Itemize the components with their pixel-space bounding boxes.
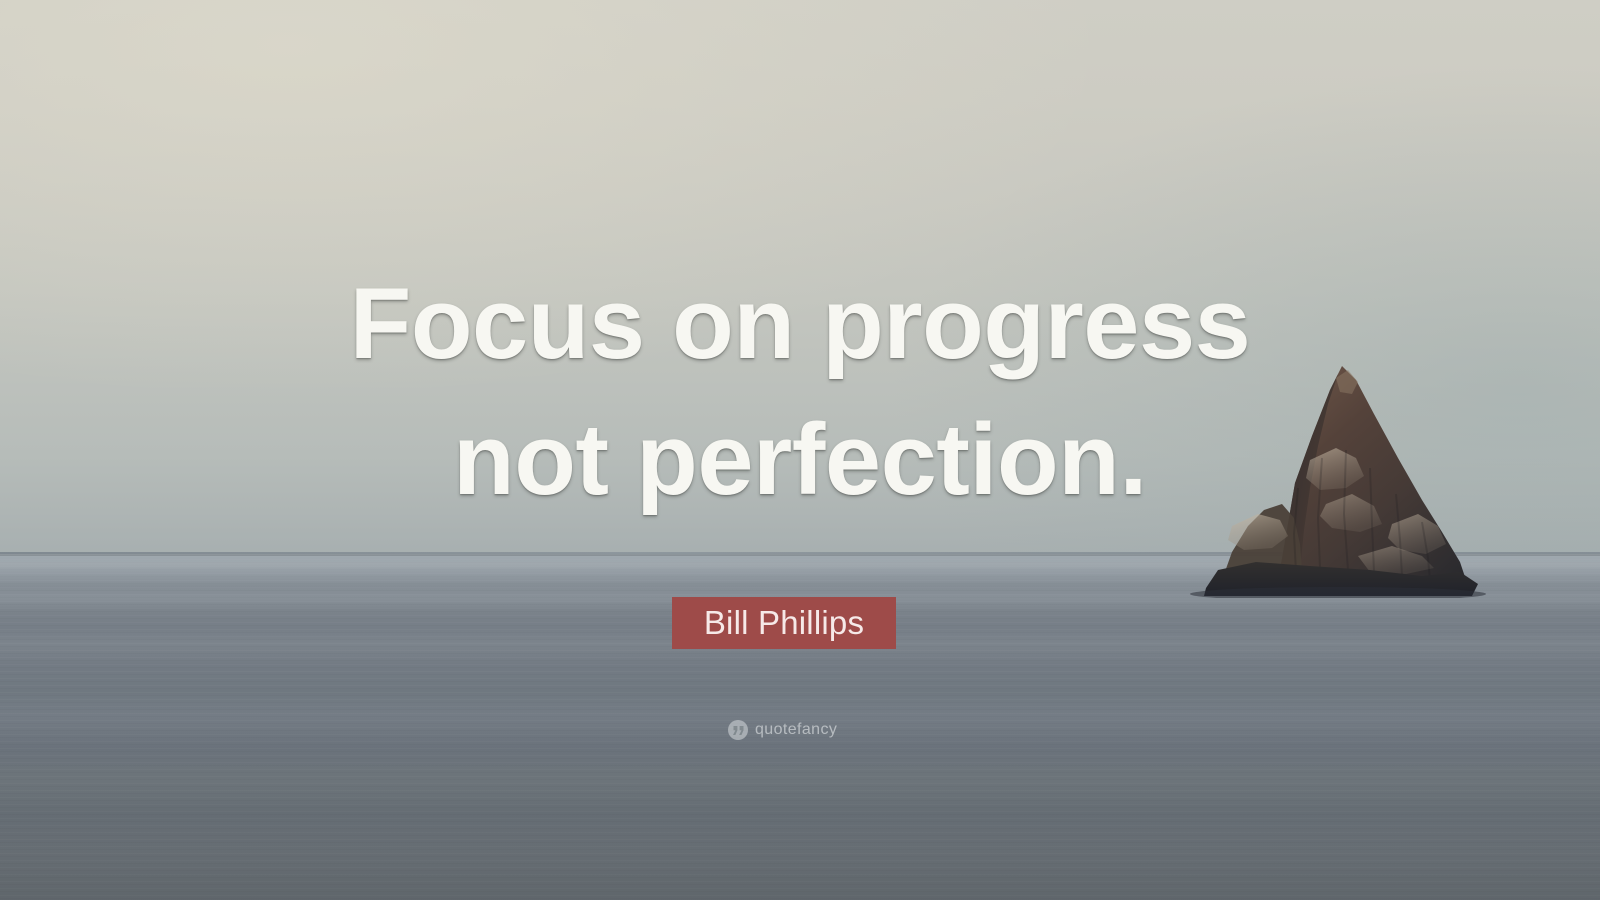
quote-line-2: not perfection. xyxy=(180,392,1420,528)
author-name: Bill Phillips xyxy=(704,606,864,641)
quote-text: Focus on progress not perfection. xyxy=(0,256,1600,528)
quote-mark-icon xyxy=(728,720,748,740)
quotefancy-watermark[interactable]: quotefancy xyxy=(728,720,837,740)
quote-poster: Focus on progress not perfection. Bill P… xyxy=(0,0,1600,900)
quote-line-1: Focus on progress xyxy=(180,256,1420,392)
watermark-brand: quotefancy xyxy=(755,722,837,738)
author-badge[interactable]: Bill Phillips xyxy=(672,597,896,649)
